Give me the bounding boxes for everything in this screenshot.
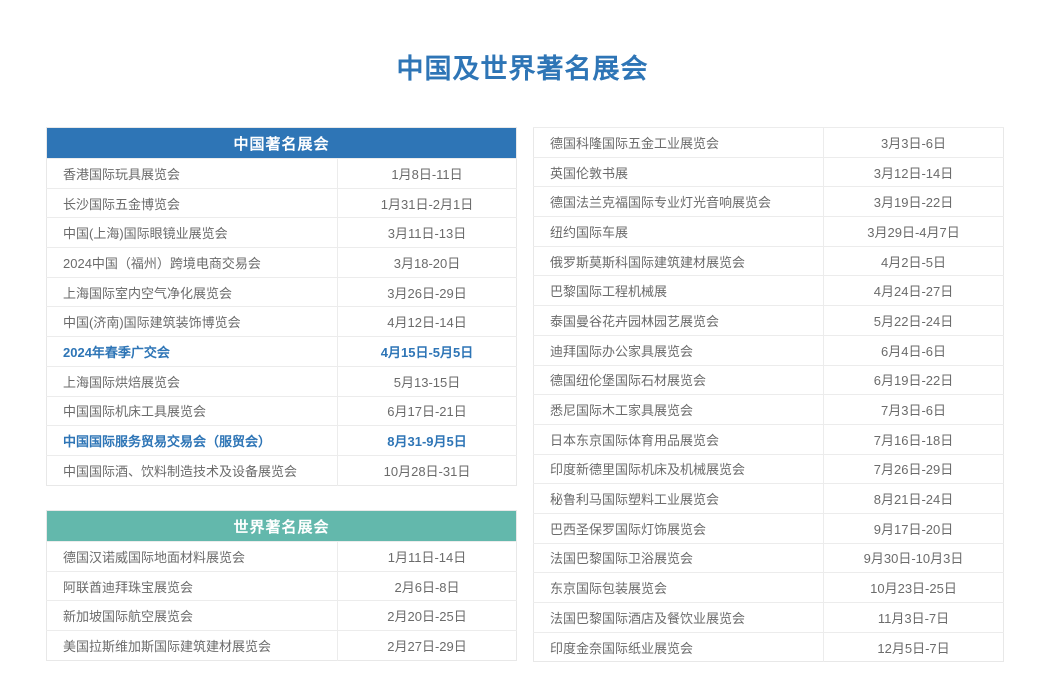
exhibition-name: 中国国际酒、饮料制造技术及设备展览会 (47, 455, 338, 485)
table-world-left-body: 德国汉诺威国际地面材料展览会1月11日-14日阿联酋迪拜珠宝展览会2月6日-8日… (47, 542, 517, 661)
exhibition-name: 2024年春季广交会 (47, 337, 338, 367)
exhibition-name: 俄罗斯莫斯科国际建筑建材展览会 (534, 246, 824, 276)
table-row[interactable]: 印度金奈国际纸业展览会12月5日-7日 (534, 632, 1004, 662)
table-china-body: 香港国际玩具展览会1月8日-11日长沙国际五金博览会1月31日-2月1日中国(上… (47, 159, 517, 486)
exhibition-date: 9月30日-10月3日 (824, 543, 1004, 573)
table-row[interactable]: 东京国际包装展览会10月23日-25日 (534, 573, 1004, 603)
table-row[interactable]: 纽约国际车展3月29日-4月7日 (534, 217, 1004, 247)
table-row[interactable]: 香港国际玩具展览会1月8日-11日 (47, 159, 517, 189)
table-row[interactable]: 巴黎国际工程机械展4月24日-27日 (534, 276, 1004, 306)
exhibition-name: 印度新德里国际机床及机械展览会 (534, 454, 824, 484)
exhibition-name: 阿联酋迪拜珠宝展览会 (47, 571, 338, 601)
exhibition-name: 法国巴黎国际卫浴展览会 (534, 543, 824, 573)
exhibition-date: 6月19日-22日 (824, 365, 1004, 395)
exhibition-date: 11月3日-7日 (824, 603, 1004, 633)
table-china-header: 中国著名展会 (47, 128, 517, 159)
exhibition-date: 7月26日-29日 (824, 454, 1004, 484)
exhibition-name: 纽约国际车展 (534, 217, 824, 247)
exhibition-name: 德国纽伦堡国际石材展览会 (534, 365, 824, 395)
exhibition-date: 4月15日-5月5日 (338, 337, 517, 367)
exhibition-date: 5月22日-24日 (824, 306, 1004, 336)
exhibition-name: 香港国际玩具展览会 (47, 159, 338, 189)
exhibition-date: 1月31日-2月1日 (338, 188, 517, 218)
table-row[interactable]: 中国国际机床工具展览会6月17日-21日 (47, 396, 517, 426)
table-row[interactable]: 阿联酋迪拜珠宝展览会2月6日-8日 (47, 571, 517, 601)
exhibition-date: 3月12日-14日 (824, 157, 1004, 187)
exhibition-date: 8月31-9月5日 (338, 426, 517, 456)
table-row[interactable]: 法国巴黎国际卫浴展览会9月30日-10月3日 (534, 543, 1004, 573)
exhibition-name: 德国汉诺威国际地面材料展览会 (47, 542, 338, 572)
exhibition-name: 中国(上海)国际眼镜业展览会 (47, 218, 338, 248)
table-row[interactable]: 法国巴黎国际酒店及餐饮业展览会11月3日-7日 (534, 603, 1004, 633)
exhibition-name: 德国科隆国际五金工业展览会 (534, 128, 824, 158)
table-header-row: 中国著名展会 (47, 128, 517, 159)
table-row[interactable]: 英国伦敦书展3月12日-14日 (534, 157, 1004, 187)
exhibition-name: 东京国际包装展览会 (534, 573, 824, 603)
table-world-exhibitions-left: 世界著名展会 德国汉诺威国际地面材料展览会1月11日-14日阿联酋迪拜珠宝展览会… (46, 510, 517, 661)
exhibition-date: 9月17日-20日 (824, 513, 1004, 543)
table-row[interactable]: 日本东京国际体育用品展览会7月16日-18日 (534, 424, 1004, 454)
table-row[interactable]: 德国法兰克福国际专业灯光音响展览会3月19日-22日 (534, 187, 1004, 217)
exhibition-date: 3月3日-6日 (824, 128, 1004, 158)
table-row[interactable]: 巴西圣保罗国际灯饰展览会9月17日-20日 (534, 513, 1004, 543)
exhibition-name: 印度金奈国际纸业展览会 (534, 632, 824, 662)
exhibition-name: 法国巴黎国际酒店及餐饮业展览会 (534, 603, 824, 633)
table-row[interactable]: 泰国曼谷花卉园林园艺展览会5月22日-24日 (534, 306, 1004, 336)
exhibition-date: 4月12日-14日 (338, 307, 517, 337)
exhibition-date: 7月3日-6日 (824, 395, 1004, 425)
exhibition-name: 美国拉斯维加斯国际建筑建材展览会 (47, 631, 338, 661)
exhibition-date: 12月5日-7日 (824, 632, 1004, 662)
table-row[interactable]: 中国国际服务贸易交易会（服贸会）8月31-9月5日 (47, 426, 517, 456)
exhibition-date: 2月6日-8日 (338, 571, 517, 601)
table-row[interactable]: 德国科隆国际五金工业展览会3月3日-6日 (534, 128, 1004, 158)
exhibition-date: 6月17日-21日 (338, 396, 517, 426)
exhibition-name: 新加坡国际航空展览会 (47, 601, 338, 631)
table-row[interactable]: 中国国际酒、饮料制造技术及设备展览会10月28日-31日 (47, 455, 517, 485)
table-row[interactable]: 印度新德里国际机床及机械展览会7月26日-29日 (534, 454, 1004, 484)
table-row[interactable]: 新加坡国际航空展览会2月20日-25日 (47, 601, 517, 631)
exhibition-date: 7月16日-18日 (824, 424, 1004, 454)
exhibition-date: 6月4日-6日 (824, 335, 1004, 365)
table-row[interactable]: 中国(济南)国际建筑装饰博览会4月12日-14日 (47, 307, 517, 337)
table-row[interactable]: 上海国际室内空气净化展览会3月26日-29日 (47, 277, 517, 307)
exhibition-name: 悉尼国际木工家具展览会 (534, 395, 824, 425)
exhibition-name: 中国(济南)国际建筑装饰博览会 (47, 307, 338, 337)
exhibition-date: 5月13-15日 (338, 366, 517, 396)
table-china-exhibitions: 中国著名展会 香港国际玩具展览会1月8日-11日长沙国际五金博览会1月31日-2… (46, 127, 517, 486)
exhibition-date: 2月27日-29日 (338, 631, 517, 661)
exhibition-name: 巴西圣保罗国际灯饰展览会 (534, 513, 824, 543)
table-row[interactable]: 上海国际烘焙展览会5月13-15日 (47, 366, 517, 396)
table-world-header: 世界著名展会 (47, 511, 517, 542)
exhibition-date: 3月19日-22日 (824, 187, 1004, 217)
page-title: 中国及世界著名展会 (0, 52, 1045, 86)
table-row[interactable]: 俄罗斯莫斯科国际建筑建材展览会4月2日-5日 (534, 246, 1004, 276)
table-row[interactable]: 秘鲁利马国际塑料工业展览会8月21日-24日 (534, 484, 1004, 514)
exhibition-name: 上海国际烘焙展览会 (47, 366, 338, 396)
exhibition-date: 3月11日-13日 (338, 218, 517, 248)
table-row[interactable]: 悉尼国际木工家具展览会7月3日-6日 (534, 395, 1004, 425)
exhibition-date: 4月2日-5日 (824, 246, 1004, 276)
exhibition-date: 1月8日-11日 (338, 159, 517, 189)
exhibition-name: 巴黎国际工程机械展 (534, 276, 824, 306)
table-row[interactable]: 长沙国际五金博览会1月31日-2月1日 (47, 188, 517, 218)
exhibition-name: 秘鲁利马国际塑料工业展览会 (534, 484, 824, 514)
exhibition-date: 2月20日-25日 (338, 601, 517, 631)
table-header-row: 世界著名展会 (47, 511, 517, 542)
exhibition-name: 中国国际机床工具展览会 (47, 396, 338, 426)
exhibition-name: 德国法兰克福国际专业灯光音响展览会 (534, 187, 824, 217)
table-row[interactable]: 德国纽伦堡国际石材展览会6月19日-22日 (534, 365, 1004, 395)
exhibition-name: 长沙国际五金博览会 (47, 188, 338, 218)
exhibition-date: 4月24日-27日 (824, 276, 1004, 306)
exhibition-date: 10月28日-31日 (338, 455, 517, 485)
table-row[interactable]: 中国(上海)国际眼镜业展览会3月11日-13日 (47, 218, 517, 248)
exhibition-name: 上海国际室内空气净化展览会 (47, 277, 338, 307)
exhibition-date: 3月29日-4月7日 (824, 217, 1004, 247)
exhibition-date: 3月26日-29日 (338, 277, 517, 307)
exhibition-date: 8月21日-24日 (824, 484, 1004, 514)
table-row[interactable]: 德国汉诺威国际地面材料展览会1月11日-14日 (47, 542, 517, 572)
exhibition-date: 10月23日-25日 (824, 573, 1004, 603)
exhibition-name: 泰国曼谷花卉园林园艺展览会 (534, 306, 824, 336)
table-row[interactable]: 美国拉斯维加斯国际建筑建材展览会2月27日-29日 (47, 631, 517, 661)
exhibition-name: 2024中国（福州）跨境电商交易会 (47, 248, 338, 278)
table-row[interactable]: 2024年春季广交会4月15日-5月5日 (47, 337, 517, 367)
exhibition-name: 迪拜国际办公家具展览会 (534, 335, 824, 365)
exhibition-name: 日本东京国际体育用品展览会 (534, 424, 824, 454)
exhibition-date: 1月11日-14日 (338, 542, 517, 572)
exhibition-date: 3月18-20日 (338, 248, 517, 278)
table-row[interactable]: 迪拜国际办公家具展览会6月4日-6日 (534, 335, 1004, 365)
table-world-exhibitions-right: 德国科隆国际五金工业展览会3月3日-6日英国伦敦书展3月12日-14日德国法兰克… (533, 127, 1004, 662)
exhibition-name: 中国国际服务贸易交易会（服贸会） (47, 426, 338, 456)
exhibition-name: 英国伦敦书展 (534, 157, 824, 187)
table-world-right-body: 德国科隆国际五金工业展览会3月3日-6日英国伦敦书展3月12日-14日德国法兰克… (534, 128, 1004, 662)
table-row[interactable]: 2024中国（福州）跨境电商交易会3月18-20日 (47, 248, 517, 278)
